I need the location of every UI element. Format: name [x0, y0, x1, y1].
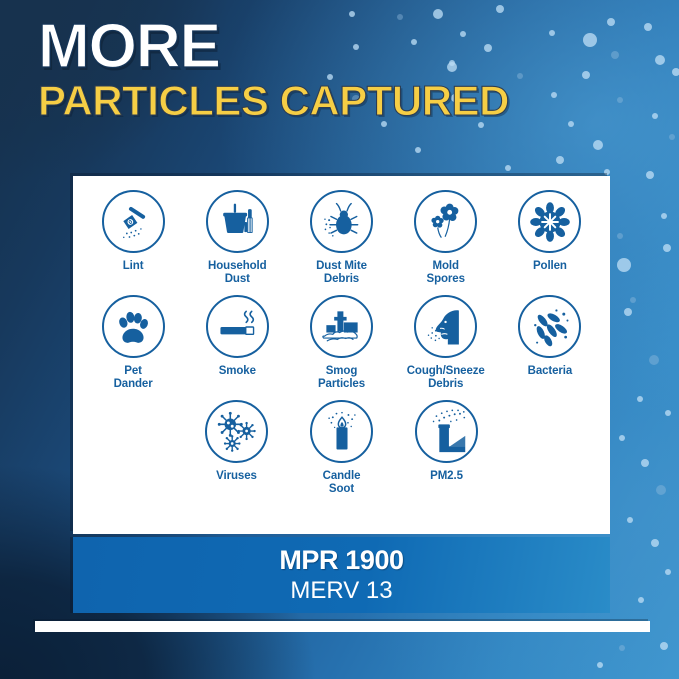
particle-item-smog-particles: SmogParticles [289, 295, 393, 391]
background-bubble [583, 33, 597, 47]
particle-icon-circle [518, 295, 581, 358]
particle-item-viruses: Viruses [184, 400, 289, 496]
particle-icon-circle [205, 400, 268, 463]
background-bubble [415, 147, 421, 153]
background-bubble [593, 140, 603, 150]
particle-item-pollen: Pollen [498, 190, 602, 286]
background-bubble [637, 396, 643, 402]
particle-row: PetDander Smoke SmogParticles [81, 295, 602, 391]
background-bubble [663, 244, 671, 252]
background-bubble [672, 68, 679, 76]
particle-label: Bacteria [528, 365, 573, 378]
particle-icon-grid: Lint HouseholdDust Dus [73, 176, 610, 496]
particles-card: Lint HouseholdDust Dus [73, 176, 610, 534]
mpr-rating: MPR 1900 [279, 545, 403, 576]
background-bubble [627, 517, 633, 523]
particle-icon-circle [415, 400, 478, 463]
background-bubble [641, 459, 649, 467]
particle-icon-circle [206, 295, 269, 358]
background-bubble [582, 71, 590, 79]
particle-row: Viruses CandleSoot PM2.5 [81, 400, 602, 496]
background-bubble [617, 97, 623, 103]
particle-icon-circle [310, 400, 373, 463]
particle-item-bacteria: Bacteria [498, 295, 602, 391]
particle-label: Smoke [219, 365, 256, 378]
particle-icon-circle [310, 295, 373, 358]
cigarette-smoke-icon [214, 304, 260, 350]
background-bubble [549, 30, 555, 36]
background-bubble [505, 165, 511, 171]
background-bubble [551, 92, 557, 98]
particle-label: Dust MiteDebris [316, 260, 367, 286]
particle-item-dust-mite-debris: Dust MiteDebris [289, 190, 393, 286]
particle-label: PM2.5 [430, 470, 463, 483]
particle-label: Pollen [533, 260, 567, 273]
paw-print-icon [111, 305, 155, 349]
particle-item-candle-soot: CandleSoot [289, 400, 394, 496]
particle-icon-circle [414, 190, 477, 253]
background-bubble [646, 171, 654, 179]
particle-item-pm2-5: PM2.5 [394, 400, 499, 496]
particle-label: PetDander [114, 365, 153, 391]
particle-label: SmogParticles [318, 365, 365, 391]
background-bubble [568, 121, 574, 127]
particle-item-lint: Lint [81, 190, 185, 286]
particle-icon-circle [206, 190, 269, 253]
background-bubble [655, 55, 665, 65]
particle-label: Cough/SneezeDebris [407, 365, 485, 391]
particle-row: Lint HouseholdDust Dus [81, 190, 602, 286]
particle-item-pet-dander: PetDander [81, 295, 185, 391]
background-bubble [669, 134, 675, 140]
background-bubble [517, 73, 523, 79]
background-bubble [649, 355, 659, 365]
bottom-accent-bar [35, 621, 650, 632]
headline-line-1: MORE [38, 17, 509, 77]
background-bubble [644, 23, 652, 31]
background-bubble [624, 308, 632, 316]
background-bubble [651, 539, 659, 547]
smog-factory-icon [319, 304, 365, 350]
background-bubble [665, 410, 671, 416]
particle-icon-circle [102, 295, 165, 358]
pm25-smokestack-icon [423, 408, 471, 456]
background-bubble [619, 645, 625, 651]
background-bubble [496, 5, 504, 13]
particle-icon-circle [414, 295, 477, 358]
background-bubble [638, 597, 644, 603]
bacteria-icon [527, 304, 573, 350]
particle-item-mold-spores: MoldSpores [394, 190, 498, 286]
background-bubble [652, 113, 658, 119]
particle-icon-circle [102, 190, 165, 253]
face-sneeze-icon [423, 304, 469, 350]
dust-mite-icon [319, 199, 365, 245]
candle-soot-icon [319, 409, 365, 455]
dustpan-broom-icon [214, 199, 260, 245]
background-bubble [656, 485, 666, 495]
background-bubble [597, 662, 603, 668]
background-bubble [617, 233, 623, 239]
virus-icon [213, 408, 261, 456]
particle-label: HouseholdDust [208, 260, 267, 286]
particle-icon-circle [310, 190, 373, 253]
background-bubble [556, 156, 564, 164]
mold-spores-flower-icon [423, 199, 469, 245]
background-bubble [607, 18, 615, 26]
background-bubble [619, 435, 625, 441]
particle-label: Lint [123, 260, 144, 273]
background-bubble [660, 642, 668, 650]
background-bubble [617, 258, 631, 272]
background-bubble [604, 169, 610, 175]
background-bubble [611, 51, 619, 59]
background-bubble [661, 213, 667, 219]
merv-rating: MERV 13 [290, 577, 392, 605]
particle-label: Viruses [216, 470, 257, 483]
particle-icon-circle [518, 190, 581, 253]
headline-line-2: PARTICLES CAPTURED [38, 79, 509, 123]
background-bubble [665, 569, 671, 575]
particle-item-cough-sneeze-debris: Cough/SneezeDebris [394, 295, 498, 391]
headline-block: MORE PARTICLES CAPTURED [38, 17, 509, 123]
particle-item-smoke: Smoke [185, 295, 289, 391]
pollen-flower-icon [528, 200, 572, 244]
particle-label: CandleSoot [323, 470, 361, 496]
particle-item-household-dust: HouseholdDust [185, 190, 289, 286]
lint-brush-icon [111, 200, 155, 244]
particle-label: MoldSpores [427, 260, 465, 286]
rating-banner: MPR 1900 MERV 13 [73, 537, 610, 613]
background-bubble [630, 297, 636, 303]
